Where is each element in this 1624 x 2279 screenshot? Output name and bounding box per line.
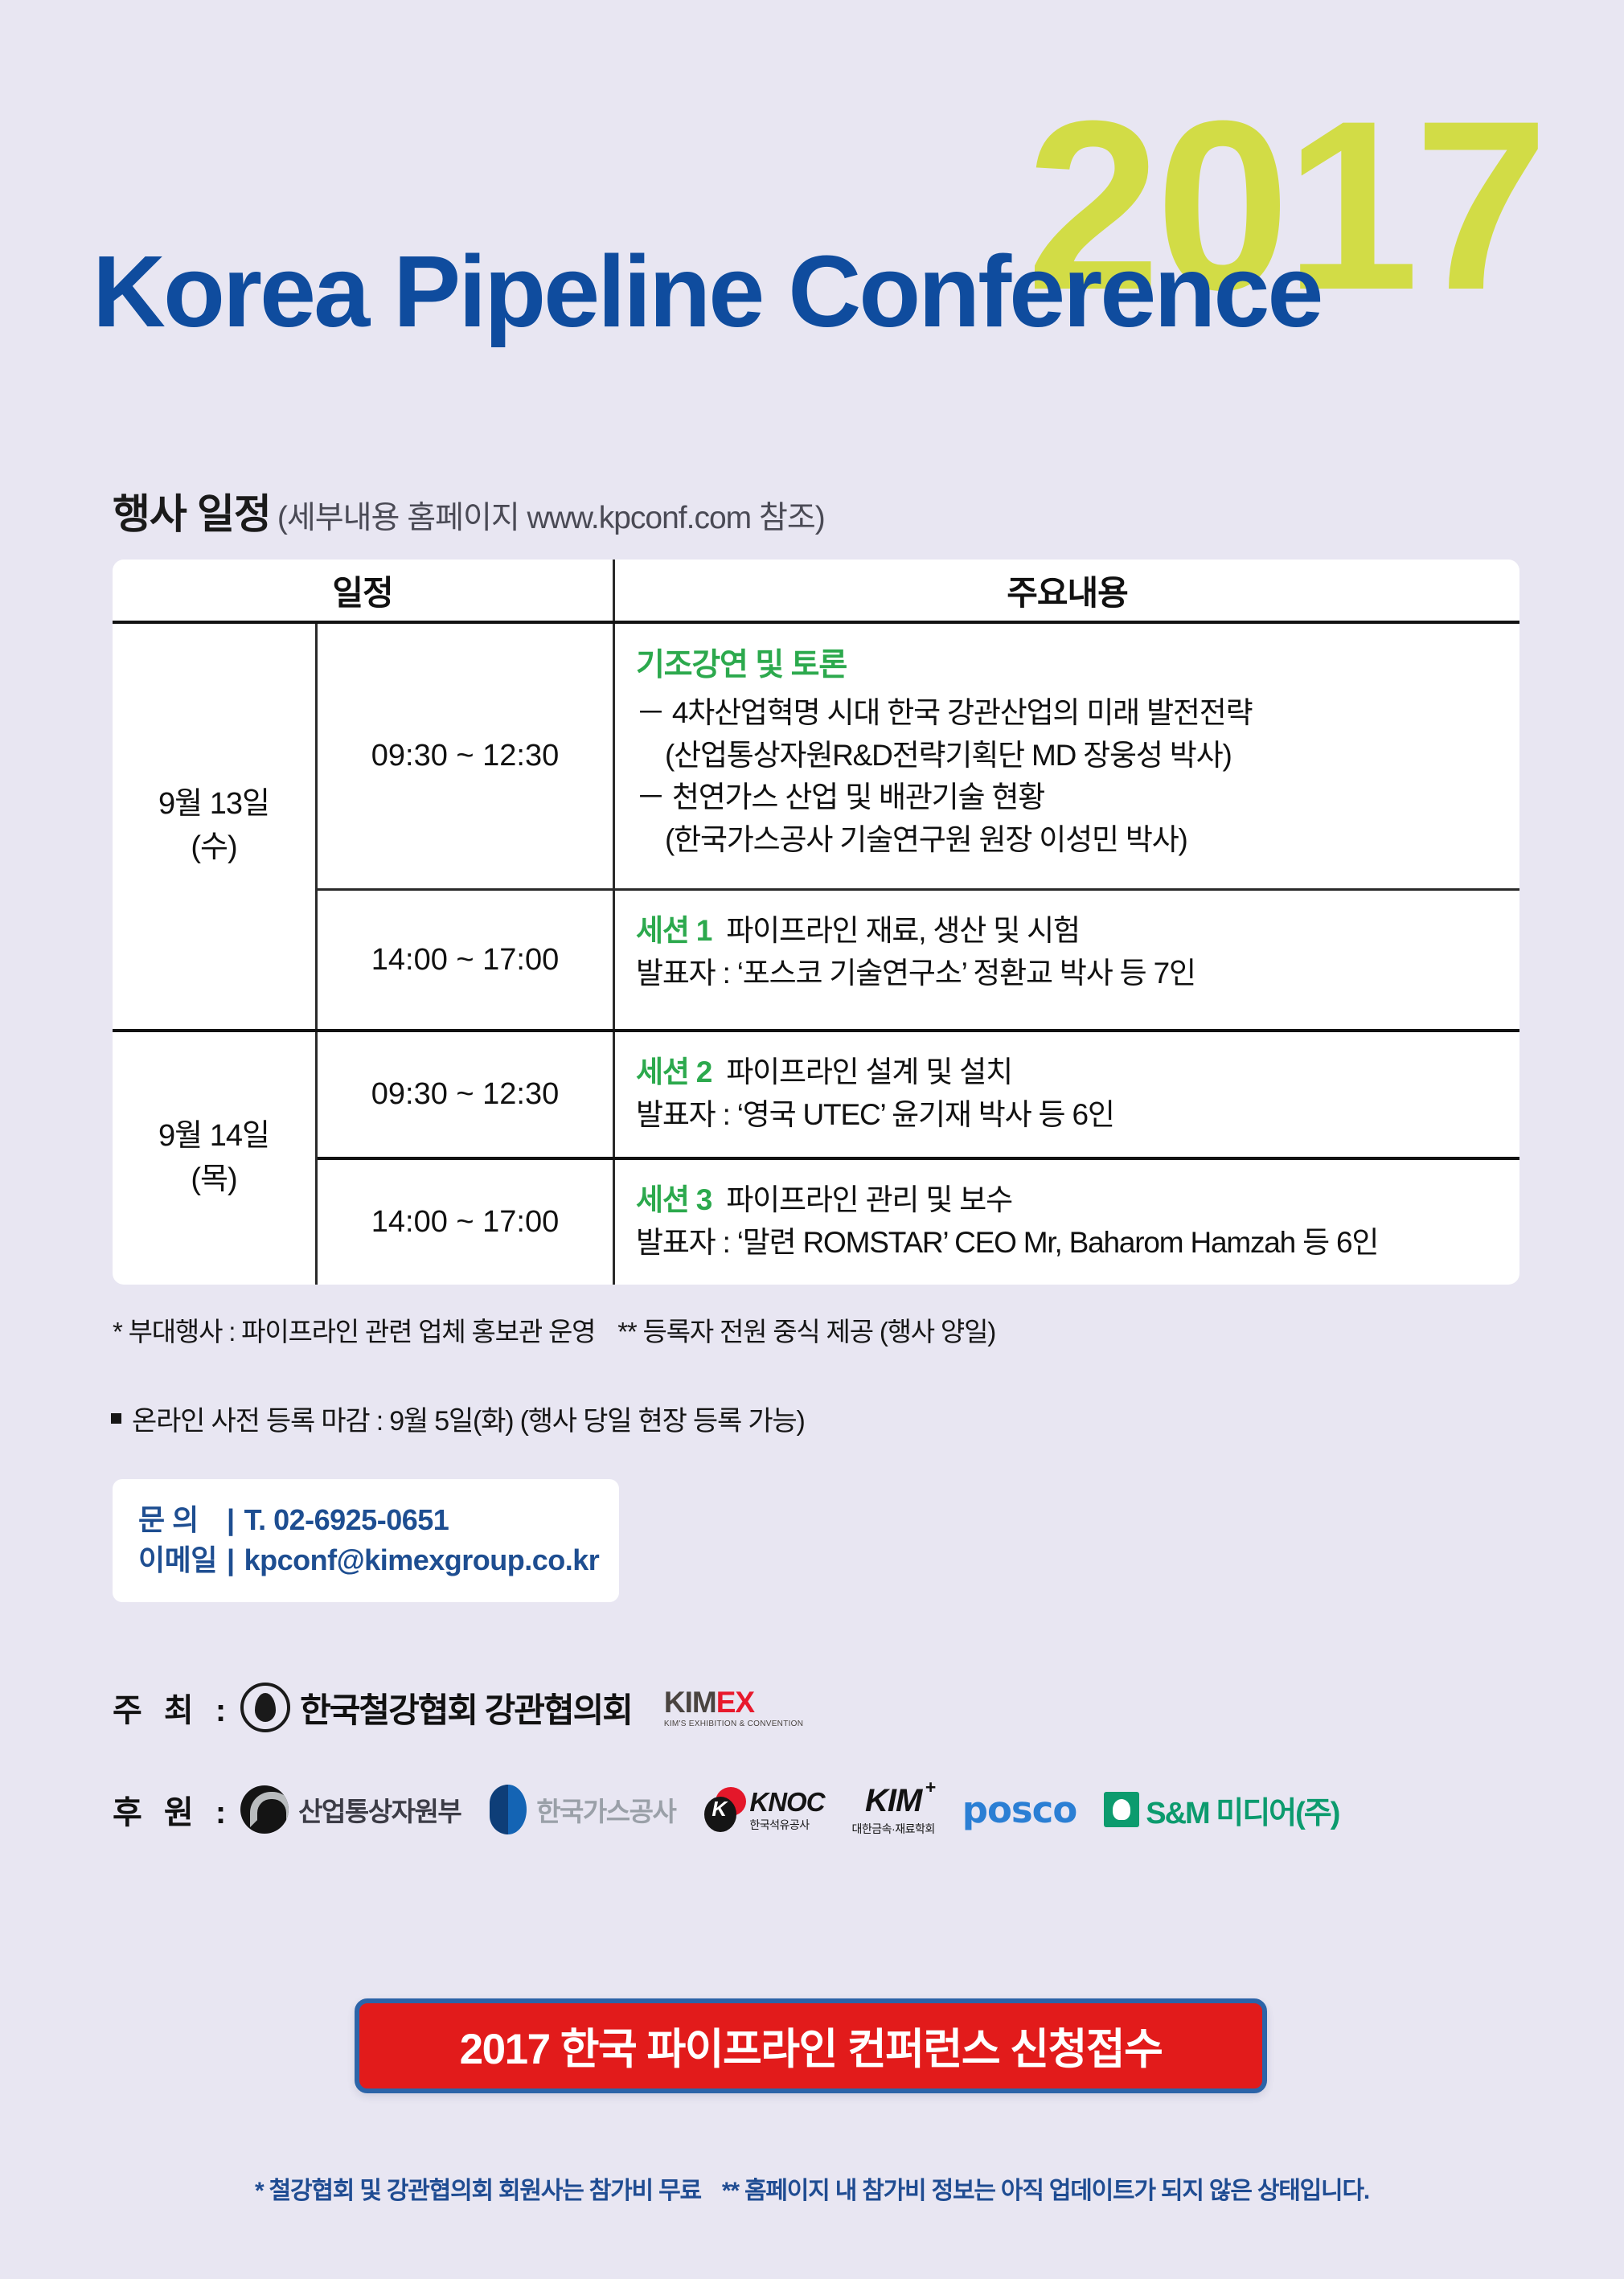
session2-title-line: 세션 2 파이프라인 설계 및 설치 xyxy=(636,1051,1505,1094)
footer-note-2: ** 홈페이지 내 참가비 정보는 아직 업데이트가 되지 않은 상태입니다. xyxy=(722,2178,1369,2204)
kimex-part-1: KIM xyxy=(664,1686,716,1719)
content-cell-session3: 세션 3 파이프라인 관리 및 보수 발표자 : ‘말련 ROMSTAR’ CE… xyxy=(615,1160,1519,1285)
kogas-logo-icon xyxy=(490,1785,527,1834)
contact-separator: | xyxy=(227,1500,235,1540)
kimex-part-2: EX xyxy=(716,1686,754,1719)
footer-note: * 철강협회 및 강관협의회 회원사는 참가비 무료** 홈페이지 내 참가비 … xyxy=(0,2170,1624,2206)
date-cell-day1: 9월 13일 (수) xyxy=(113,624,318,1029)
session3-keyword: 세션 3 xyxy=(636,1183,712,1216)
bullet-square-icon xyxy=(111,1413,121,1424)
kim-plus-logo: KIM+ 대한금속·재료학회 xyxy=(852,1785,935,1834)
schedule-heading-main: 행사 일정 xyxy=(113,491,271,537)
register-button[interactable]: 2017 한국 파이프라인 컨퍼런스 신청접수 xyxy=(355,1998,1267,2093)
keynote-line-1: － 4차산업혁명 시대 한국 강관산업의 미래 발전전략 xyxy=(636,692,1505,735)
keynote-keyword: 기조강연 및 토론 xyxy=(636,643,1505,687)
contact-email-label: 이메일 xyxy=(138,1540,225,1580)
column-header-content: 주요내용 xyxy=(615,560,1519,621)
kimex-wordmark: KIMEX xyxy=(664,1687,803,1717)
time-cell: 14:00 ~ 17:00 xyxy=(318,891,615,1029)
session2-title: 파이프라인 설계 및 설치 xyxy=(726,1055,1012,1088)
keynote-line-3: － 천연가스 산업 및 배관기술 현황 xyxy=(636,777,1505,819)
schedule-slot-keynote: 09:30 ~ 12:30 기조강연 및 토론 － 4차산업혁명 시대 한국 강… xyxy=(318,624,1519,888)
kim-subtitle: 대한금속·재료학회 xyxy=(852,1823,935,1834)
schedule-slot-session2: 09:30 ~ 12:30 세션 2 파이프라인 설계 및 설치 발표자 : ‘… xyxy=(318,1032,1519,1157)
contact-email-value[interactable]: kpconf@kimexgroup.co.kr xyxy=(244,1543,600,1576)
session2-speaker: 발표자 : ‘영국 UTEC’ 윤기재 박사 등 6인 xyxy=(636,1094,1505,1137)
sponsor-name-kogas: 한국가스공사 xyxy=(536,1790,675,1829)
session1-title: 파이프라인 재료, 생산 및 시험 xyxy=(726,914,1079,947)
note-side-events-text: * 부대행사 : 파이프라인 관련 업체 홍보관 운영 xyxy=(113,1317,595,1346)
sponsor-name-kim: KIM xyxy=(865,1783,921,1818)
content-cell-session1: 세션 1 파이프라인 재료, 생산 및 시험 발표자 : ‘포스코 기술연구소’… xyxy=(615,891,1519,1029)
date-line-2: (목) xyxy=(191,1158,236,1202)
session3-title-line: 세션 3 파이프라인 관리 및 보수 xyxy=(636,1179,1505,1222)
footer-note-1: * 철강협회 및 강관협의회 회원사는 참가비 무료 xyxy=(255,2178,701,2204)
schedule-heading: 행사 일정(세부내용 홈페이지 www.kpconf.com 참조) xyxy=(113,481,825,540)
note-registration-text: 온라인 사전 등록 마감 : 9월 5일(화) (행사 당일 현장 등록 가능) xyxy=(132,1399,805,1438)
note-side-events: * 부대행사 : 파이프라인 관련 업체 홍보관 운영** 등록자 전원 중식 … xyxy=(113,1310,995,1349)
schedule-table: 일정 주요내용 9월 13일 (수) 09:30 ~ 12:30 기조강연 및 … xyxy=(113,560,1519,1285)
time-cell: 14:00 ~ 17:00 xyxy=(318,1160,615,1285)
time-cell: 09:30 ~ 12:30 xyxy=(318,624,615,888)
snm-media-logo: S&M 미디어(주) xyxy=(1104,1788,1339,1832)
session1-speaker: 발표자 : ‘포스코 기술연구소’ 정환교 박사 등 7인 xyxy=(636,953,1505,995)
content-cell-session2: 세션 2 파이프라인 설계 및 설치 발표자 : ‘영국 UTEC’ 윤기재 박… xyxy=(615,1032,1519,1157)
session1-keyword: 세션 1 xyxy=(636,914,712,947)
session1-title-line: 세션 1 파이프라인 재료, 생산 및 시험 xyxy=(636,910,1505,953)
contact-phone-label: 문 의 xyxy=(138,1500,225,1540)
time-cell: 09:30 ~ 12:30 xyxy=(318,1032,615,1157)
contact-email-row: 이메일|kpconf@kimexgroup.co.kr xyxy=(138,1540,595,1580)
organizer-name: 한국철강협회 강관협의회 xyxy=(300,1683,632,1732)
knoc-subtitle: 한국석유공사 xyxy=(749,1819,824,1830)
date-line-1: 9월 13일 xyxy=(158,783,269,826)
sponsor-label: 후 원 : xyxy=(113,1786,232,1833)
date-cell-day2: 9월 14일 (목) xyxy=(113,1032,318,1285)
table-row: 9월 13일 (수) 09:30 ~ 12:30 기조강연 및 토론 － 4차산… xyxy=(113,624,1519,1032)
column-header-date: 일정 xyxy=(113,560,615,621)
schedule-heading-sub: (세부내용 홈페이지 www.kpconf.com 참조) xyxy=(277,501,825,535)
kosa-logo-icon xyxy=(240,1683,290,1732)
sponsor-name-snm: S&M 미디어(주) xyxy=(1146,1788,1339,1832)
kim-wordmark: KIM+ xyxy=(865,1785,921,1817)
contact-separator: | xyxy=(227,1540,235,1580)
session3-title: 파이프라인 관리 및 보수 xyxy=(726,1183,1012,1216)
table-header-row: 일정 주요내용 xyxy=(113,560,1519,624)
contact-box: 문 의|T. 02-6925-0651 이메일|kpconf@kimexgrou… xyxy=(113,1479,619,1602)
organizer-label: 주 최 : xyxy=(113,1684,232,1731)
contact-phone-row: 문 의|T. 02-6925-0651 xyxy=(138,1500,595,1540)
note-lunch-text: ** 등록자 전원 중식 제공 (행사 양일) xyxy=(617,1317,995,1346)
sponsor-row: 후 원 : 산업통상자원부 한국가스공사 K KNOC 한국석유공사 KIM+ … xyxy=(113,1778,1339,1841)
kimex-subtitle: KIM'S EXHIBITION & CONVENTION xyxy=(664,1720,803,1728)
knoc-logo: K KNOC 한국석유공사 xyxy=(704,1787,824,1832)
kim-plus-sign: + xyxy=(925,1778,935,1797)
contact-phone-value[interactable]: T. 02-6925-0651 xyxy=(244,1503,449,1536)
keynote-line-4: (한국가스공사 기술연구원 원장 이성민 박사) xyxy=(636,819,1505,862)
knoc-k-letter: K xyxy=(712,1798,727,1819)
keynote-line-2: (산업통상자원R&D전략기획단 MD 장웅성 박사) xyxy=(636,735,1505,777)
posco-logo: posco xyxy=(962,1789,1077,1831)
schedule-slot-session1: 14:00 ~ 17:00 세션 1 파이프라인 재료, 생산 및 시험 발표자… xyxy=(318,888,1519,1029)
sponsor-name-motie: 산업통상자원부 xyxy=(298,1790,461,1829)
kimex-logo: KIMEX KIM'S EXHIBITION & CONVENTION xyxy=(664,1687,803,1728)
session3-speaker: 발표자 : ‘말련 ROMSTAR’ CEO Mr, Baharom Hamza… xyxy=(636,1222,1505,1265)
sponsor-name-knoc: KNOC xyxy=(749,1789,824,1815)
motie-logo-icon xyxy=(240,1785,289,1834)
page-title: Korea Pipeline Conference xyxy=(92,241,1322,342)
organizer-row: 주 최 : 한국철강협회 강관협의회 KIMEX KIM'S EXHIBITIO… xyxy=(113,1676,803,1739)
schedule-slot-session3: 14:00 ~ 17:00 세션 3 파이프라인 관리 및 보수 발표자 : ‘… xyxy=(318,1157,1519,1285)
knoc-wordmark: KNOC 한국석유공사 xyxy=(749,1789,824,1830)
note-registration-deadline: 온라인 사전 등록 마감 : 9월 5일(화) (행사 당일 현장 등록 가능) xyxy=(111,1399,805,1438)
session2-keyword: 세션 2 xyxy=(636,1055,712,1088)
date-line-2: (수) xyxy=(191,826,236,870)
content-cell-keynote: 기조강연 및 토론 － 4차산업혁명 시대 한국 강관산업의 미래 발전전략 (… xyxy=(615,624,1519,888)
hero-banner: 2017 Korea Pipeline Conference xyxy=(0,0,1624,426)
date-line-1: 9월 14일 xyxy=(158,1115,269,1158)
snm-logo-icon xyxy=(1104,1792,1139,1827)
table-row: 9월 14일 (목) 09:30 ~ 12:30 세션 2 파이프라인 설계 및… xyxy=(113,1032,1519,1285)
knoc-logo-icon: K xyxy=(704,1787,746,1832)
